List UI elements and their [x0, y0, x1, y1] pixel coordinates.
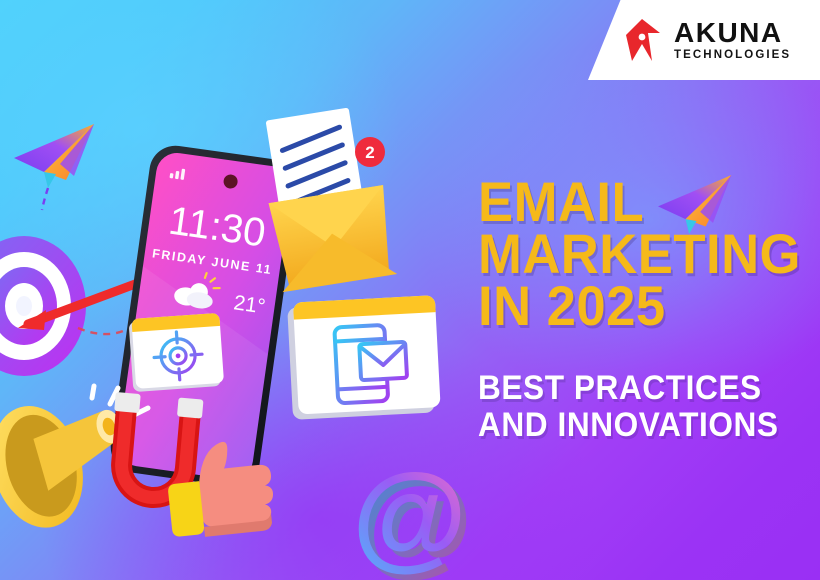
thumbs-up-illustration [170, 432, 290, 542]
envelope-illustration: 2 [258, 108, 398, 308]
at-symbol-illustration: @ @ [348, 462, 494, 580]
hand-shape [194, 437, 275, 528]
logo-tagline: TECHNOLOGIES [674, 50, 791, 62]
subtitle-line-1: BEST PRACTICES [478, 370, 794, 407]
magnet-tip [177, 397, 204, 418]
headline-line-2: MARKETING [478, 228, 788, 280]
logo-name: AKUNA [674, 19, 791, 47]
notification-badge: 2 [355, 137, 385, 167]
email-marketing-banner: AKUNA TECHNOLOGIES [0, 0, 820, 580]
subtitle: BEST PRACTICES AND INNOVATIONS [478, 370, 818, 443]
badge-count: 2 [365, 143, 374, 162]
magnet-tip [114, 392, 141, 413]
mobile-email-card[interactable] [284, 294, 444, 424]
paper-plane-left-icon [8, 114, 116, 210]
cuff-shape [167, 481, 204, 537]
akuna-arrow-icon [622, 17, 664, 63]
headline-line-3: IN 2025 [478, 280, 788, 332]
subtitle-line-2: AND INNOVATIONS [478, 407, 794, 444]
brand-logo[interactable]: AKUNA TECHNOLOGIES [588, 0, 820, 80]
headline-line-1: EMAIL [478, 176, 788, 228]
headline: EMAIL MARKETING IN 2025 [478, 176, 808, 332]
svg-text:@: @ [352, 450, 467, 580]
